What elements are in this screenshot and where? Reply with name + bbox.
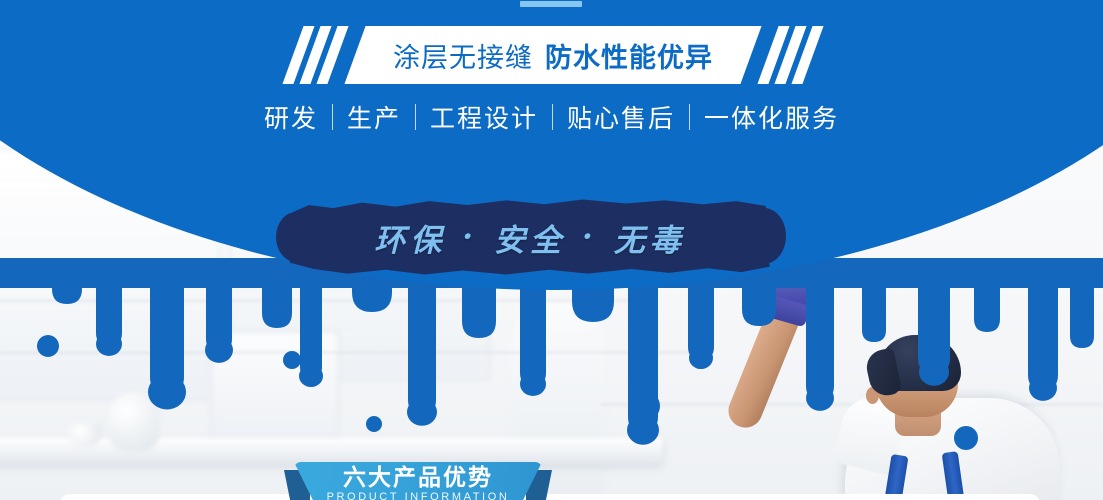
paint-drip <box>408 282 436 414</box>
paint-drip <box>352 282 392 312</box>
ribbon-body[interactable]: 六大产品优势 PRODUCT INFORMATION <box>294 462 542 500</box>
service-separator <box>552 104 553 130</box>
ribbon-title-cn: 六大产品优势 <box>343 465 493 490</box>
paint-droplet <box>693 355 707 369</box>
section-ribbon: 六大产品优势 PRODUCT INFORMATION <box>284 462 552 500</box>
banner-stage: 涂层无接缝 防水性能优异 研发生产工程设计贴心售后一体化服务 环保·安全·无毒 … <box>0 0 1103 500</box>
paint-drip <box>262 282 292 328</box>
paint-drip <box>1028 282 1058 390</box>
headline-text-light: 涂层无接缝 <box>393 36 533 75</box>
service-item: 工程设计 <box>430 99 538 135</box>
paint-drip-bulb <box>1029 375 1057 401</box>
paint-droplet <box>283 351 301 369</box>
brush-text-word: 无毒 <box>614 215 686 260</box>
brush-text-word: 环保 <box>374 215 446 260</box>
brush-text-word: 安全 <box>494 215 566 260</box>
service-item: 生产 <box>347 99 401 135</box>
paint-drip <box>806 282 834 400</box>
headline-stripes-right <box>739 26 813 84</box>
service-list: 研发生产工程设计贴心售后一体化服务 <box>0 99 1103 135</box>
paint-drip <box>300 282 322 378</box>
paint-drip-bulb <box>407 398 437 426</box>
paint-drip-bulb <box>96 332 122 356</box>
brush-stroke-text: 环保·安全·无毒 <box>290 198 770 276</box>
top-accent-bar <box>520 1 582 7</box>
service-separator <box>332 104 333 130</box>
brush-text-separator: · <box>582 219 598 255</box>
brush-text-separator: · <box>462 219 478 255</box>
paint-droplet <box>37 335 59 357</box>
paint-droplet <box>630 391 660 421</box>
paint-drip <box>862 282 886 342</box>
paint-drip-bulb <box>205 337 233 363</box>
brush-stroke-banner: 环保·安全·无毒 <box>290 198 770 276</box>
paint-drip <box>462 282 496 338</box>
paint-drip <box>520 282 546 386</box>
paint-drip <box>1070 282 1094 348</box>
service-separator <box>415 104 416 130</box>
service-item: 研发 <box>264 99 318 135</box>
ribbon-title-en: PRODUCT INFORMATION <box>327 491 510 500</box>
paint-drip-bulb <box>806 385 834 411</box>
paint-droplet <box>366 416 382 432</box>
paint-drip-bulb <box>148 375 186 410</box>
paint-drip <box>974 282 1000 332</box>
paint-drip <box>52 282 82 304</box>
paint-droplet <box>954 426 978 450</box>
headline-text: 涂层无接缝 防水性能优异 <box>355 26 751 84</box>
paint-drip-bulb <box>919 358 949 386</box>
headline-text-bold: 防水性能优异 <box>545 36 713 75</box>
service-separator <box>689 104 690 130</box>
headline-banner: 涂层无接缝 防水性能优异 <box>293 26 813 84</box>
paint-drip <box>742 282 776 326</box>
paint-drip-bulb <box>299 365 323 387</box>
paint-drip-bulb <box>520 372 546 396</box>
service-item: 一体化服务 <box>704 99 839 135</box>
service-item: 贴心售后 <box>567 99 675 135</box>
